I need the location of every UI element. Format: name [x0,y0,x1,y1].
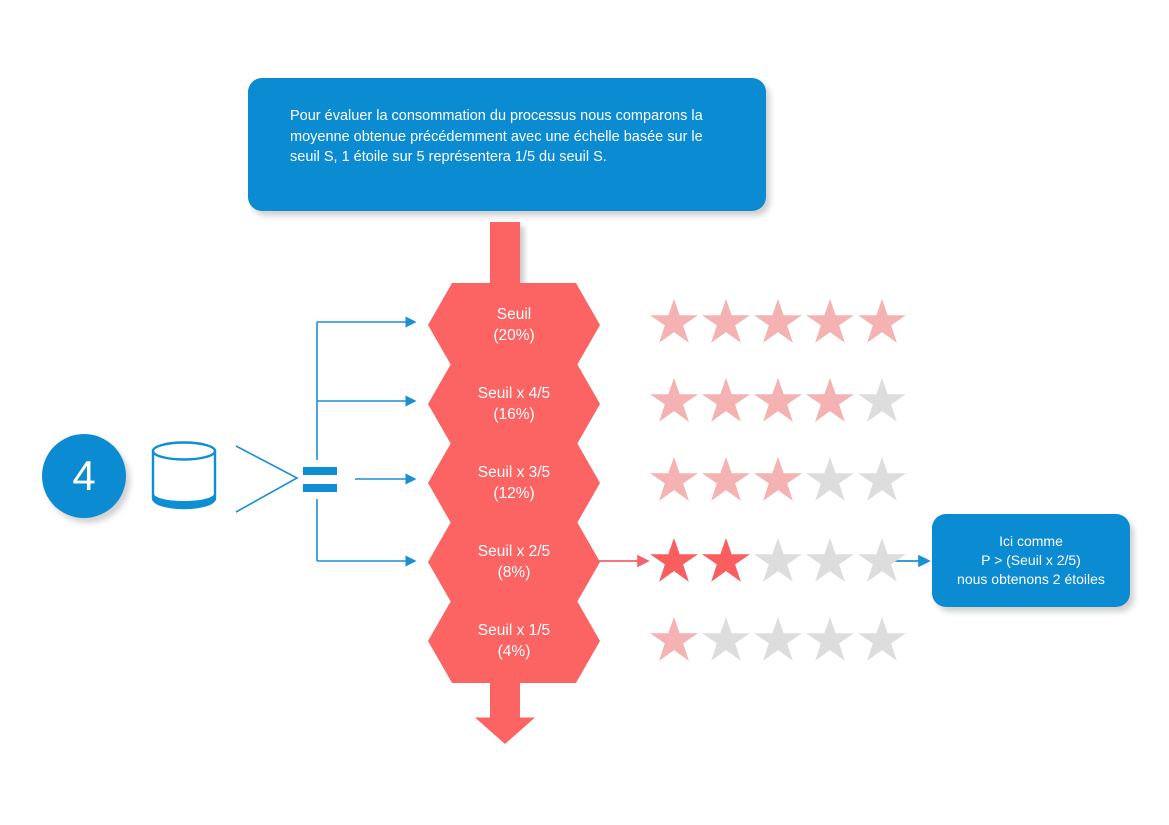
star-filled-icon [754,378,802,424]
hexagon-level-1-label: Seuil [497,304,531,325]
star-empty-icon [858,617,906,663]
star-filled-icon [650,457,698,503]
star-filled-icon [702,457,750,503]
star-filled-icon [650,617,698,663]
star-empty-icon [806,538,854,584]
star-empty-icon [806,457,854,503]
star-empty-icon [702,617,750,663]
callout-right-line2: P > (Seuil x 2/5) [957,551,1105,570]
hexagon-level-3-label: Seuil x 3/5 [478,462,550,483]
callout-right: Ici comme P > (Seuil x 2/5) nous obtenon… [932,514,1130,607]
star-row-level-2 [650,378,906,424]
hexagon-level-3-value: (12%) [493,483,534,504]
cylinder-fill-label: 10% [151,490,217,501]
callout-top-text: Pour évaluer la consommation du processu… [290,108,703,165]
red-connector-stem [490,222,520,290]
star-filled-icon [806,378,854,424]
equals-bar-top [303,467,337,475]
hexagon-level-1: Seuil (20%) [428,283,600,367]
star-empty-icon [806,617,854,663]
star-filled-icon [754,299,802,345]
hexagon-level-4: Seuil x 2/5 (8%) [428,520,600,604]
star-filled-icon [754,457,802,503]
star-empty-icon [858,457,906,503]
star-row-level-3 [650,457,906,503]
callout-right-line1: Ici comme [957,532,1105,551]
star-filled-icon [806,299,854,345]
hexagon-level-4-value: (8%) [498,562,531,583]
equals-symbol [303,467,337,493]
callout-right-line3: nous obtenons 2 étoiles [957,570,1105,589]
star-row-level-5 [650,617,906,663]
star-row-level-4 [650,538,906,584]
star-filled-icon [650,378,698,424]
red-down-arrow [475,681,535,744]
hexagon-level-2-value: (16%) [493,404,534,425]
star-filled-icon [702,299,750,345]
star-empty-icon [754,538,802,584]
star-filled-icon [650,538,698,584]
hexagon-level-2-label: Seuil x 4/5 [478,383,550,404]
hexagon-level-3: Seuil x 3/5 (12%) [428,441,600,525]
step-number-badge: 4 [42,434,126,518]
diagram-canvas: Pour évaluer la consommation du processu… [0,0,1169,825]
star-filled-icon [702,538,750,584]
star-empty-icon [858,378,906,424]
equals-bar-bottom [303,484,337,492]
hexagon-level-4-label: Seuil x 2/5 [478,541,550,562]
star-row-level-1 [650,299,906,345]
hexagon-level-5-label: Seuil x 1/5 [478,620,550,641]
star-empty-icon [858,538,906,584]
star-filled-icon [650,299,698,345]
star-filled-icon [702,378,750,424]
star-empty-icon [754,617,802,663]
star-filled-icon [858,299,906,345]
hexagon-level-1-value: (20%) [493,325,534,346]
hexagon-level-2: Seuil x 4/5 (16%) [428,362,600,446]
hexagon-level-5-value: (4%) [498,641,531,662]
callout-top: Pour évaluer la consommation du processu… [248,78,766,211]
database-cylinder-icon: 10% [151,440,217,512]
step-number-label: 4 [72,455,95,497]
hexagon-level-5: Seuil x 1/5 (4%) [428,599,600,683]
